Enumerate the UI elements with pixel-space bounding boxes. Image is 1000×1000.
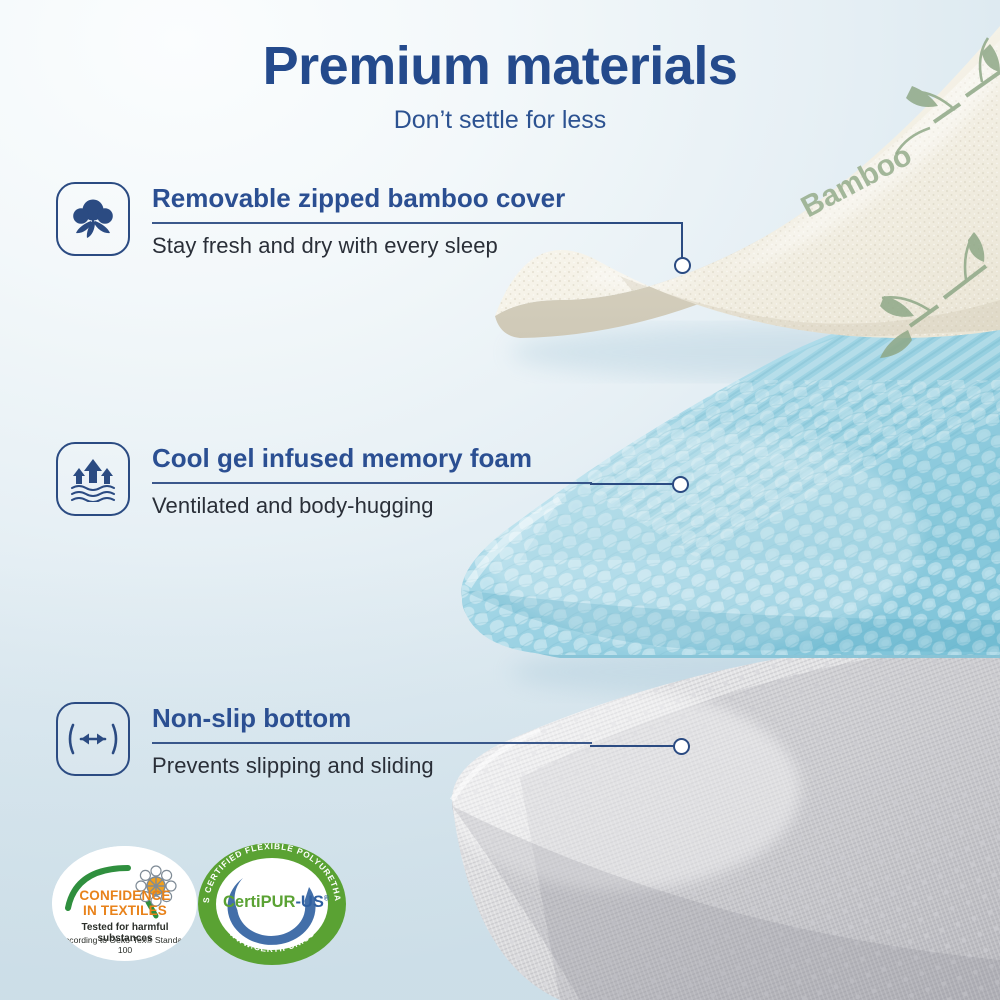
certipur-brand-green: CertiPUR [223,893,295,911]
feature-heading: Cool gel infused memory foam [152,444,592,473]
feature-memory-foam: Cool gel infused memory foam Ventilated … [56,442,592,519]
certipur-registered-mark: ® [324,896,329,903]
feature-heading: Removable zipped bamboo cover [152,184,592,213]
oeko-line-4: according to Oeko-Tex® Standard 100 [56,935,194,955]
feature-divider [152,222,592,224]
header: Premium materials Don’t settle for less [0,38,1000,135]
connector-dot-bamboo-cover [674,257,691,274]
feature-bamboo-cover: Removable zipped bamboo cover Stay fresh… [56,182,592,259]
page-subtitle: Don’t settle for less [0,106,1000,135]
infographic-canvas: Bamboo Premium mate [0,0,1000,1000]
feature-subtext: Prevents slipping and sliding [152,753,592,779]
feature-subtext: Ventilated and body-hugging [152,493,592,519]
oeko-tex-badge: CONFIDENCE IN TEXTILES Tested for harmfu… [52,846,197,961]
horizontal-arrow-icon [56,702,130,776]
page-title: Premium materials [0,38,1000,94]
certipur-wordmark: CertiPUR-US® [223,893,321,912]
cotton-flower-icon [56,182,130,256]
oeko-line-1: CONFIDENCE [70,888,180,903]
feature-subtext: Stay fresh and dry with every sleep [152,233,592,259]
airflow-arrows-icon [56,442,130,516]
non-slip-bottom-layer [440,630,1000,1000]
certipur-us-badge: CONTAINS CERTIFIED FLEXIBLE POLYURETHANE… [197,843,347,965]
feature-heading: Non-slip bottom [152,704,592,733]
feature-non-slip-bottom: Non-slip bottom Prevents slipping and sl… [56,702,592,779]
feature-divider [152,742,592,744]
feature-divider [152,482,592,484]
connector-dot-non-slip-bottom [673,738,690,755]
connector-dot-memory-foam [672,476,689,493]
oeko-line-2: IN TEXTILES [70,903,180,918]
certipur-brand-blue: -US [295,893,323,911]
